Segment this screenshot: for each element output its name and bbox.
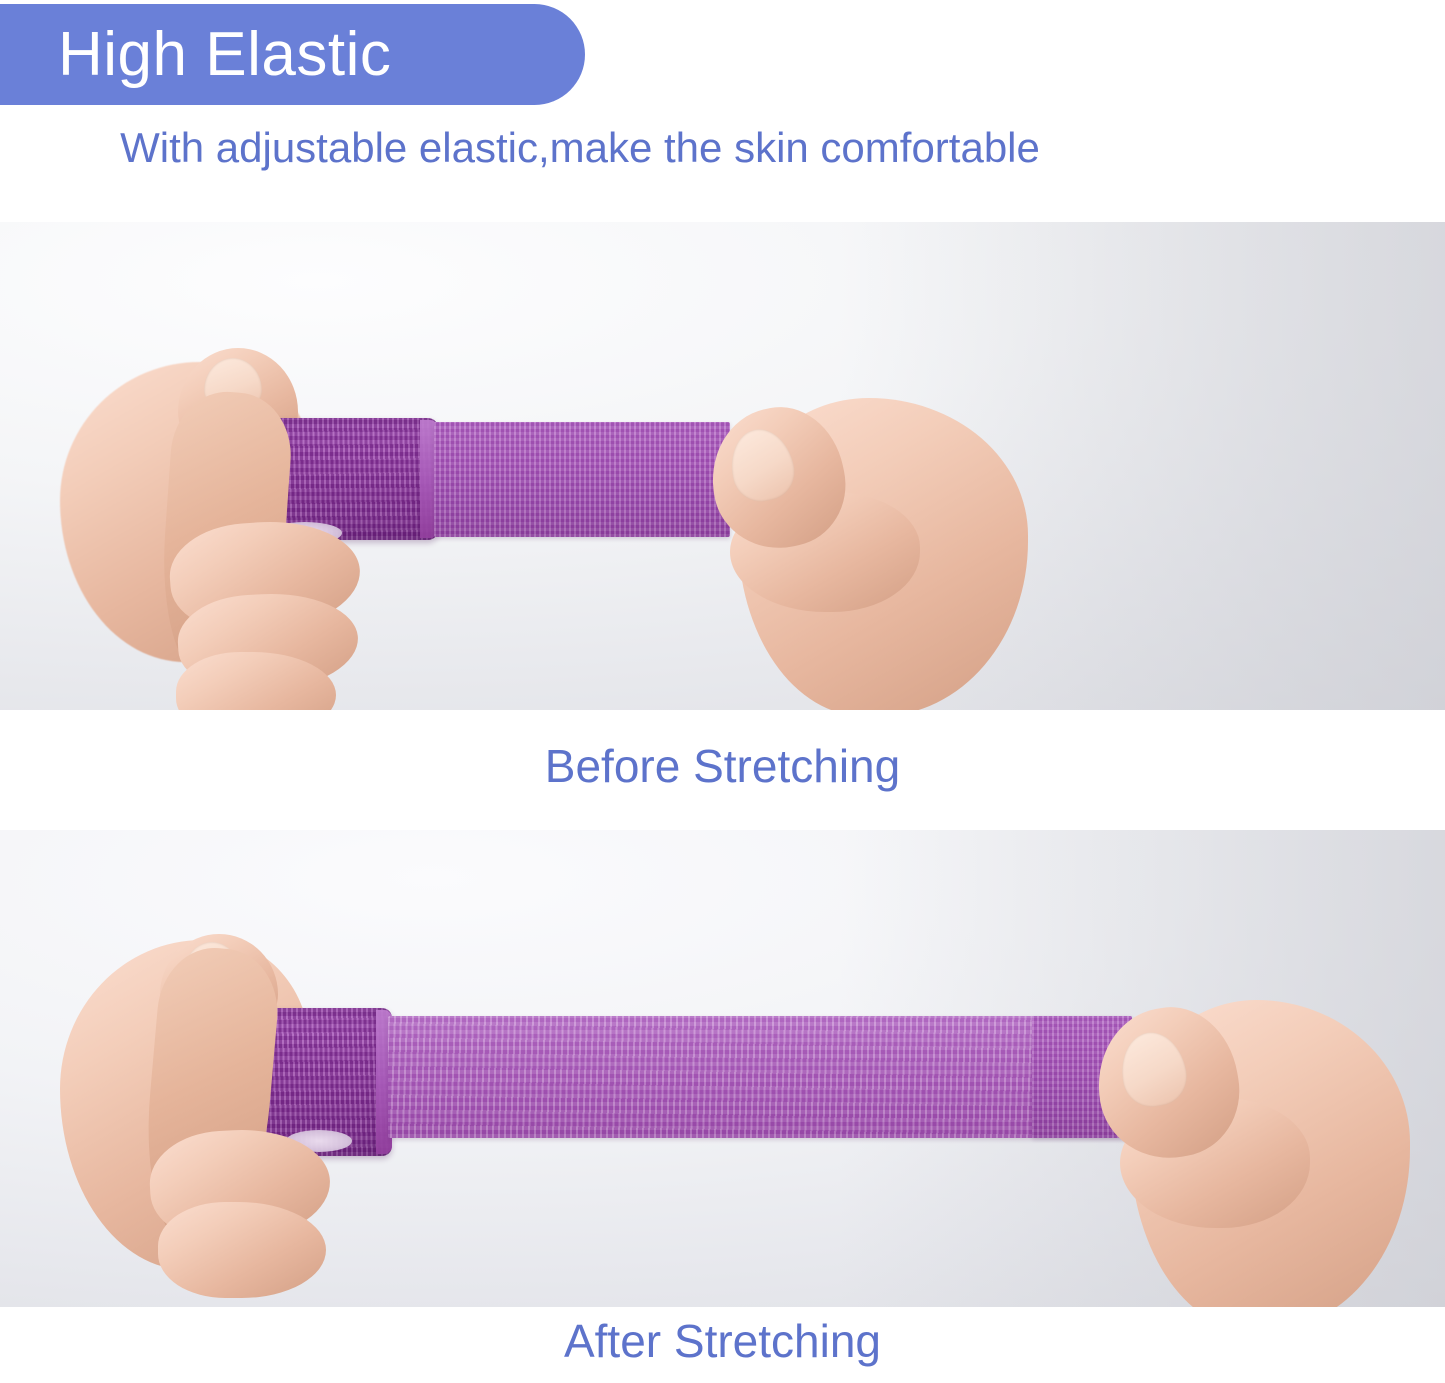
caption-band-after: After Stretching [0,1307,1445,1383]
feature-badge: High Elastic [0,4,585,105]
photo-before-stretching [0,222,1445,710]
product-feature-image: High Elastic With adjustable elastic,mak… [0,0,1445,1383]
bandage-tape-icon [388,1016,1132,1138]
left-hand-middle-finger [158,1202,326,1298]
feature-badge-label: High Elastic [0,24,391,86]
thumbnail-icon [724,423,800,506]
caption-band-before: Before Stretching [0,710,1445,830]
caption-before-stretching: Before Stretching [0,710,1445,792]
photo-after-stretching [0,830,1445,1307]
bandage-tape-icon [434,422,730,537]
caption-after-stretching: After Stretching [0,1307,1445,1367]
feature-subtitle: With adjustable elastic,make the skin co… [0,124,1160,172]
thumbnail-icon [1115,1027,1191,1111]
